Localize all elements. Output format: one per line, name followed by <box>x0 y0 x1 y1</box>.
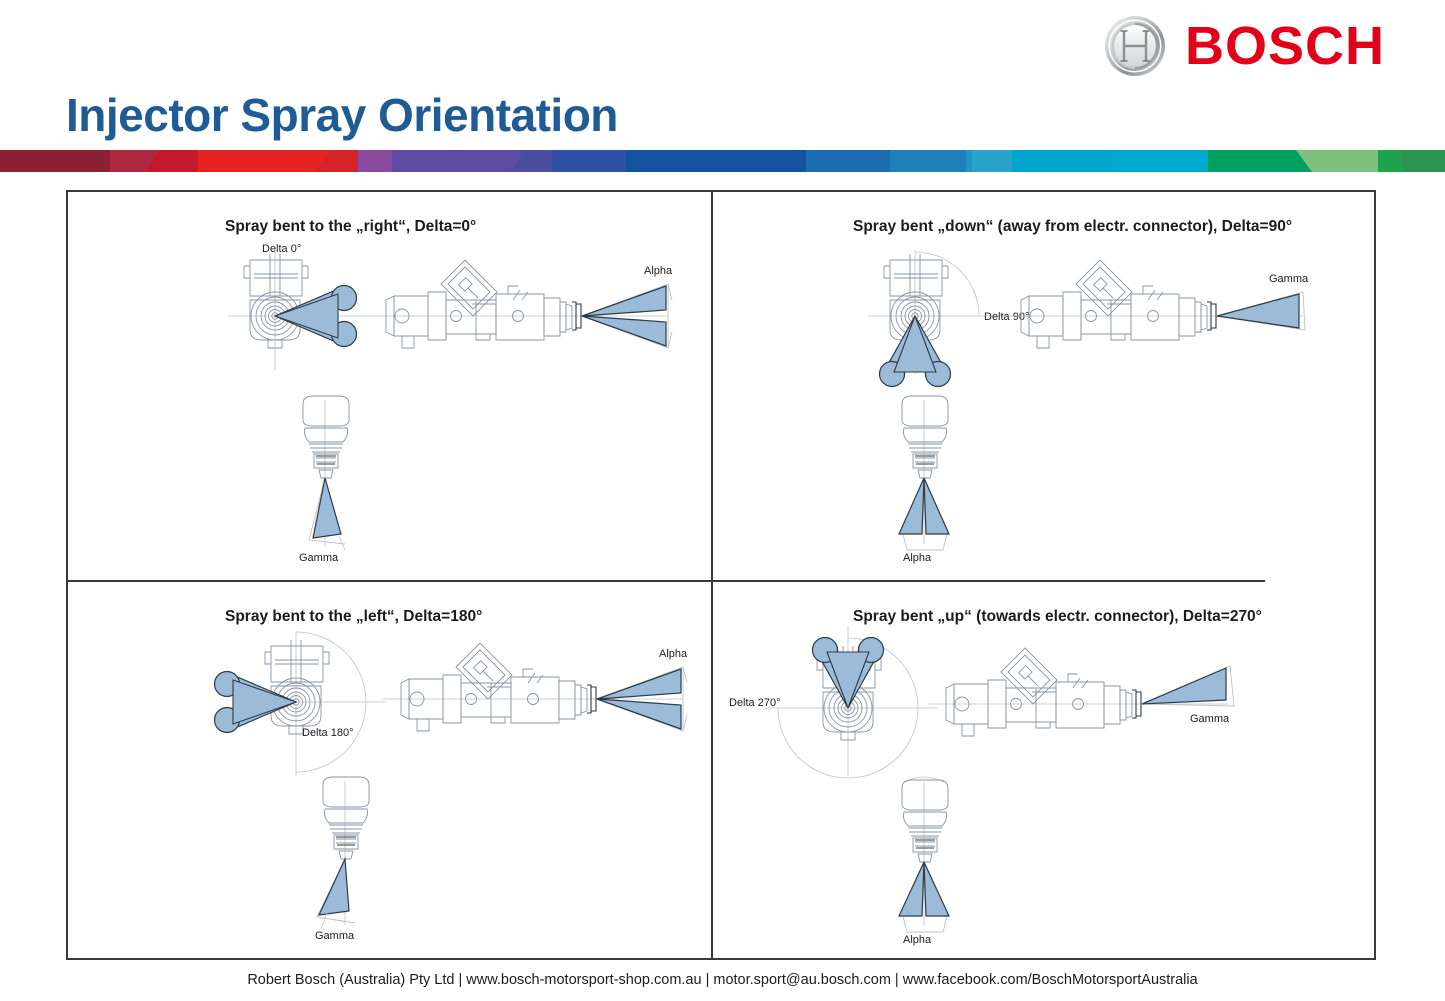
slide-page: BOSCH Injector Spray Orientation <box>0 0 1445 1001</box>
panel-delta-270: Spray bent „up“ (towards electr. connect… <box>713 582 1376 960</box>
bosch-wordmark: BOSCH <box>1185 19 1385 73</box>
nozzle-view-gamma-delta-0: Gamma <box>283 394 393 564</box>
bosch-armature-icon <box>1103 14 1167 78</box>
page-title: Injector Spray Orientation <box>66 88 618 142</box>
gamma-label: Gamma <box>299 552 339 564</box>
gamma-label: Gamma <box>1269 273 1309 285</box>
panel-delta-90: Spray bent „down“ (away from electr. con… <box>713 192 1376 580</box>
alpha-label: Alpha <box>644 265 673 277</box>
gamma-label: Gamma <box>315 930 355 942</box>
nozzle-view-alpha-delta-270: Alpha <box>879 780 989 945</box>
alpha-label: Alpha <box>903 934 932 946</box>
diagram-frame: Spray bent to the „right“, Delta=0° <box>66 190 1376 960</box>
delta-label: Delta 0° <box>262 243 301 255</box>
delta-label: Delta 180° <box>302 727 354 739</box>
panel-title: Spray bent to the „left“, Delta=180° <box>225 608 482 626</box>
alpha-label: Alpha <box>659 648 688 660</box>
brand-color-band <box>0 150 1445 172</box>
nozzle-view-alpha-delta-90: Alpha <box>879 394 989 564</box>
front-view-delta-180: Delta 180° <box>206 630 406 780</box>
side-view-injector-delta-180: Alpha <box>383 627 703 757</box>
panel-delta-180: Spray bent to the „left“, Delta=180° <box>68 582 711 960</box>
side-view-injector-delta-0: Alpha <box>368 244 688 374</box>
footer-contact: Robert Bosch (Australia) Pty Ltd | www.b… <box>0 972 1445 988</box>
bosch-logo: BOSCH <box>1103 14 1385 78</box>
panel-delta-0: Spray bent to the „right“, Delta=0° <box>68 192 711 580</box>
alpha-label: Alpha <box>903 552 932 564</box>
delta-label: Delta 270° <box>729 697 781 709</box>
side-view-injector-delta-90: Gamma <box>1003 244 1323 374</box>
side-view-injector-delta-270: Gamma <box>928 632 1248 772</box>
gamma-label: Gamma <box>1190 713 1230 725</box>
nozzle-view-gamma-delta-180: Gamma <box>293 777 403 942</box>
panel-title: Spray bent „down“ (away from electr. con… <box>853 218 1292 236</box>
panel-title: Spray bent to the „right“, Delta=0° <box>225 218 476 236</box>
